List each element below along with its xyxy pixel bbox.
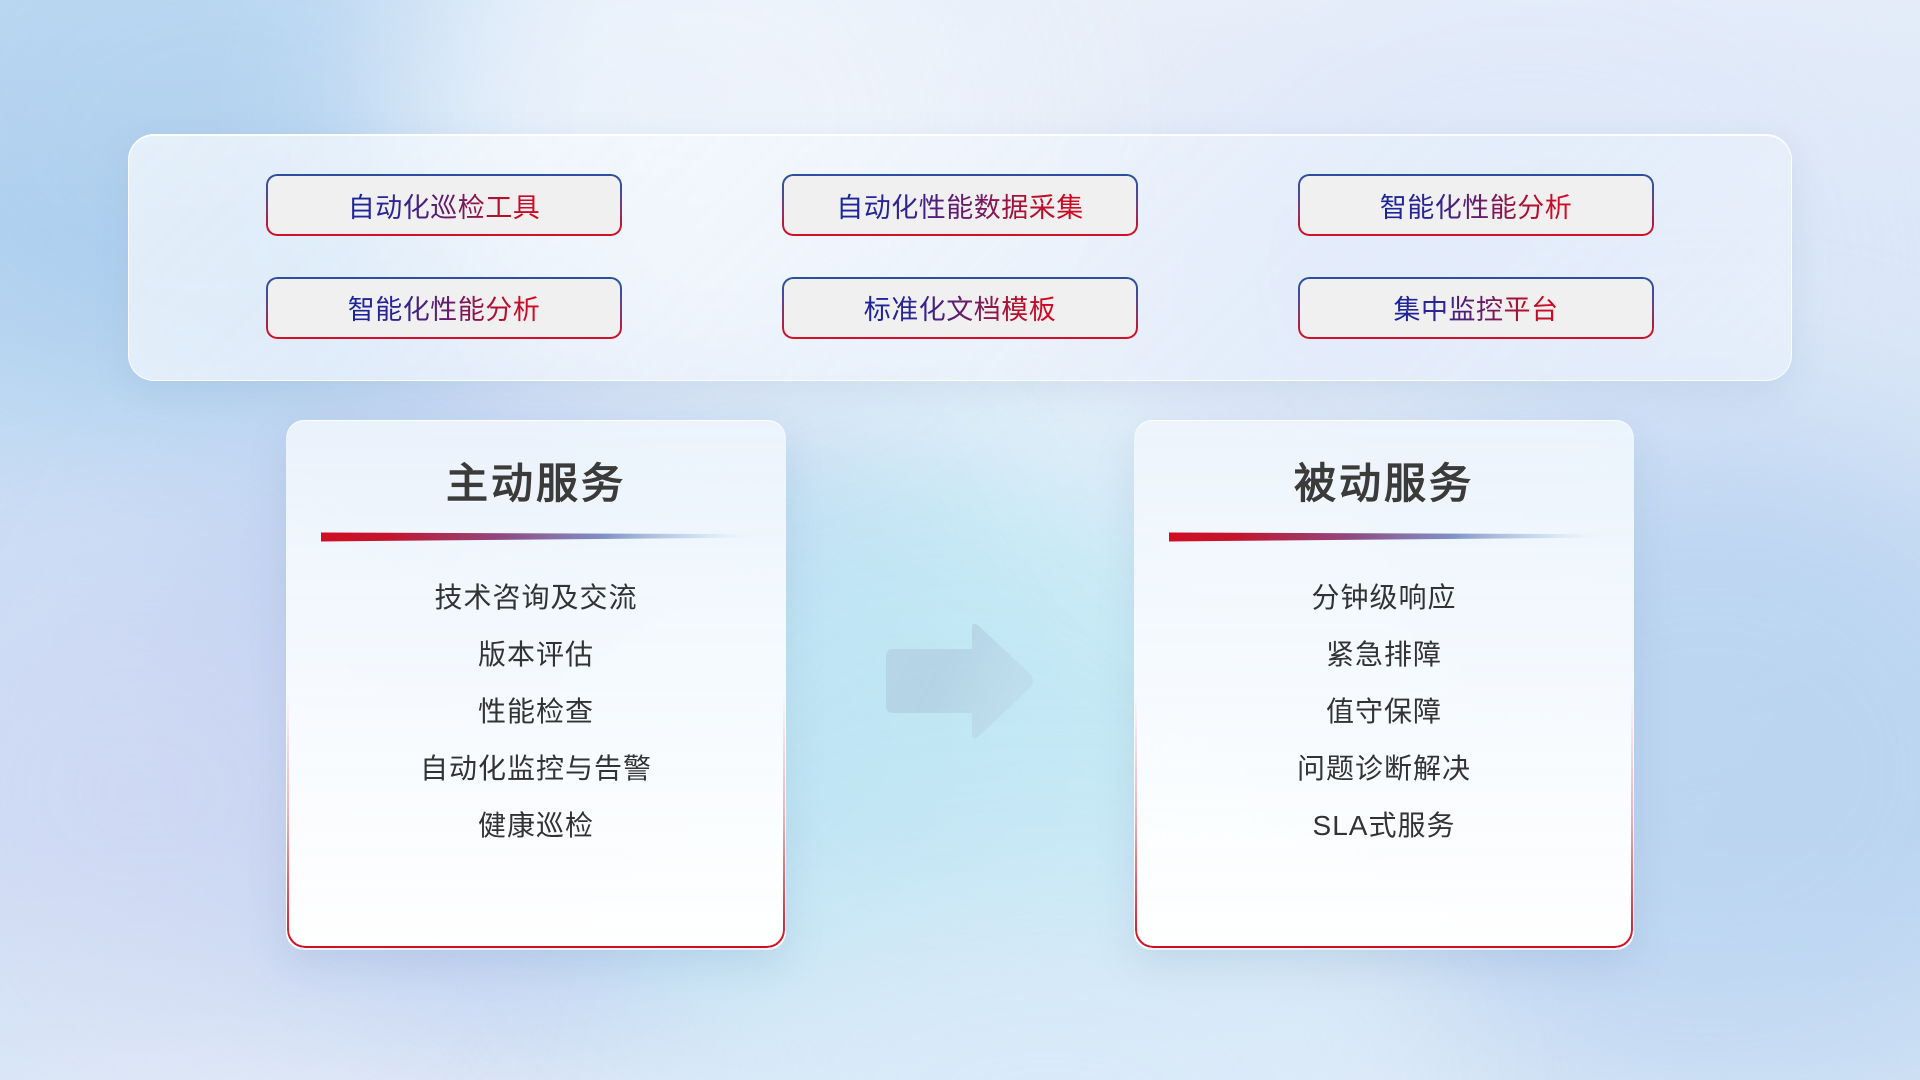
service-item: 分钟级响应 <box>1311 569 1456 626</box>
card-divider <box>321 531 751 543</box>
service-card-proactive: 主动服务 <box>286 420 786 950</box>
capability-panel: 自动化巡检工具 自动化性能数据采集 智能化性能分析 智能化性能分析 标准化文档模… <box>128 134 1792 381</box>
card-divider <box>1169 531 1599 543</box>
service-item: 紧急排障 <box>1326 626 1442 683</box>
service-item: 技术咨询及交流 <box>434 569 637 626</box>
capability-pill[interactable]: 自动化性能数据采集 <box>782 174 1138 236</box>
capability-pill-grid: 自动化巡检工具 自动化性能数据采集 智能化性能分析 智能化性能分析 标准化文档模… <box>129 135 1791 380</box>
arrow-right-glyph <box>880 622 1036 740</box>
service-item-list: 分钟级响应 紧急排障 值守保障 问题诊断解决 SLA式服务 <box>1135 569 1633 854</box>
service-item-list: 技术咨询及交流 版本评估 性能检查 自动化监控与告警 健康巡检 <box>287 569 785 854</box>
card-title: 主动服务 <box>446 450 626 511</box>
capability-pill[interactable]: 自动化巡检工具 <box>266 174 622 236</box>
capability-pill[interactable]: 集中监控平台 <box>1298 277 1654 339</box>
diagram-stage: 自动化巡检工具 自动化性能数据采集 智能化性能分析 智能化性能分析 标准化文档模… <box>0 0 1920 1080</box>
service-item: 问题诊断解决 <box>1297 740 1471 797</box>
service-card-reactive: 被动服务 <box>1134 420 1634 950</box>
capability-pill-label: 智能化性能分析 <box>1380 186 1573 225</box>
capability-pill-label: 自动化性能数据采集 <box>836 186 1084 225</box>
service-item: 自动化监控与告警 <box>420 740 652 797</box>
divider-gradient-icon <box>1169 531 1599 543</box>
capability-pill[interactable]: 智能化性能分析 <box>266 277 622 339</box>
card-title: 被动服务 <box>1294 450 1474 511</box>
capability-pill-label: 标准化文档模板 <box>864 288 1057 327</box>
capability-pill-label: 智能化性能分析 <box>348 288 541 327</box>
capability-pill-label: 自动化巡检工具 <box>348 186 541 225</box>
service-item: 值守保障 <box>1326 683 1442 740</box>
capability-pill-label: 集中监控平台 <box>1394 288 1559 327</box>
capability-pill[interactable]: 标准化文档模板 <box>782 277 1138 339</box>
service-item: 性能检查 <box>478 683 594 740</box>
service-item: 版本评估 <box>478 626 594 683</box>
service-item: 健康巡检 <box>478 797 594 854</box>
divider-gradient-icon <box>321 531 751 543</box>
capability-pill[interactable]: 智能化性能分析 <box>1298 174 1654 236</box>
service-item: SLA式服务 <box>1313 797 1456 854</box>
arrow-right-icon <box>880 622 1036 740</box>
